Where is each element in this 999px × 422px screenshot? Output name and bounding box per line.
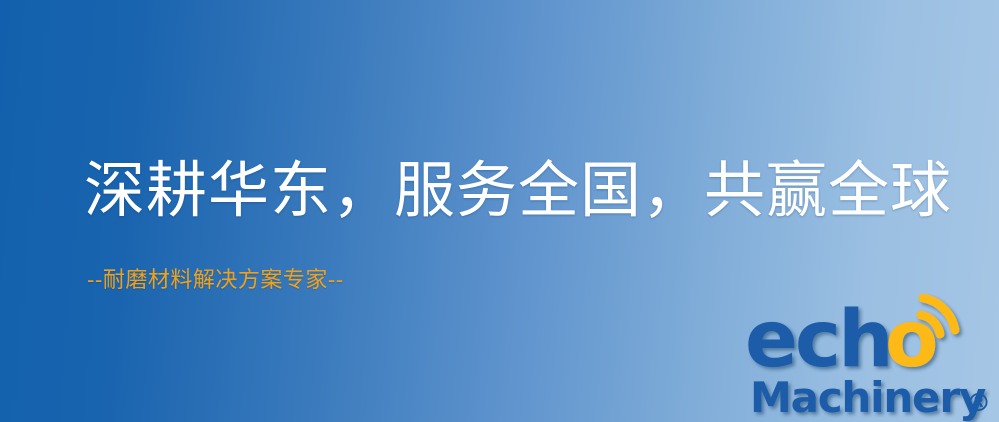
logo-echo-text-blue: ech [745,295,891,385]
svg-text:®: ® [966,388,991,417]
banner-subtitle: --耐磨材料解决方案专家-- [87,266,344,296]
svg-text:o: o [885,295,939,385]
hero-banner: 深耕华东，服务全国，共赢全球 --耐磨材料解决方案专家-- ech o [0,0,999,422]
logo-machinery-text: Machinery [750,373,986,422]
logo-registered-mark-icon: ® [966,388,991,417]
echo-machinery-logo[interactable]: ech o Machinery ® [744,294,999,422]
banner-headline: 深耕华东，服务全国，共赢全球 [84,152,952,230]
svg-text:ech: ech [745,295,891,385]
logo-echo-letter-o-gold: o [885,295,939,385]
svg-text:Machinery: Machinery [750,373,986,422]
